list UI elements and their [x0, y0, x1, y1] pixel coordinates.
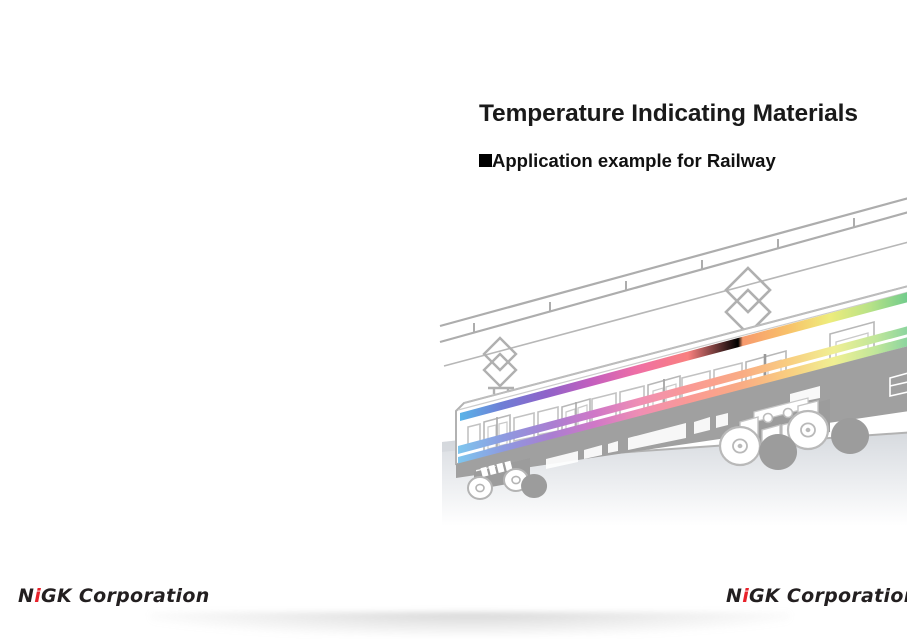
logo-accent-letter: i [742, 585, 749, 607]
logo-prefix: N [726, 585, 742, 607]
logo-suffix: GK Corporation [749, 585, 907, 607]
logo-accent-letter: i [34, 585, 41, 607]
slide-title: Temperature Indicating Materials [479, 99, 907, 129]
slide-subtitle-text: Application example for Railway [492, 149, 776, 172]
railway-train-illustration [438, 196, 907, 526]
footer-logo-left: NiGK Corporation [18, 585, 210, 607]
footer-logo-right: NiGK Corporation [726, 585, 907, 607]
heading-block: Temperature Indicating Materials Applica… [479, 99, 907, 172]
logo-prefix: N [18, 585, 34, 607]
presentation-slide: Temperature Indicating Materials Applica… [0, 0, 907, 639]
square-bullet-icon [479, 154, 492, 167]
pantograph-front [484, 338, 516, 394]
slide-subtitle: Application example for Railway [479, 129, 907, 172]
logo-suffix: GK Corporation [41, 585, 210, 607]
